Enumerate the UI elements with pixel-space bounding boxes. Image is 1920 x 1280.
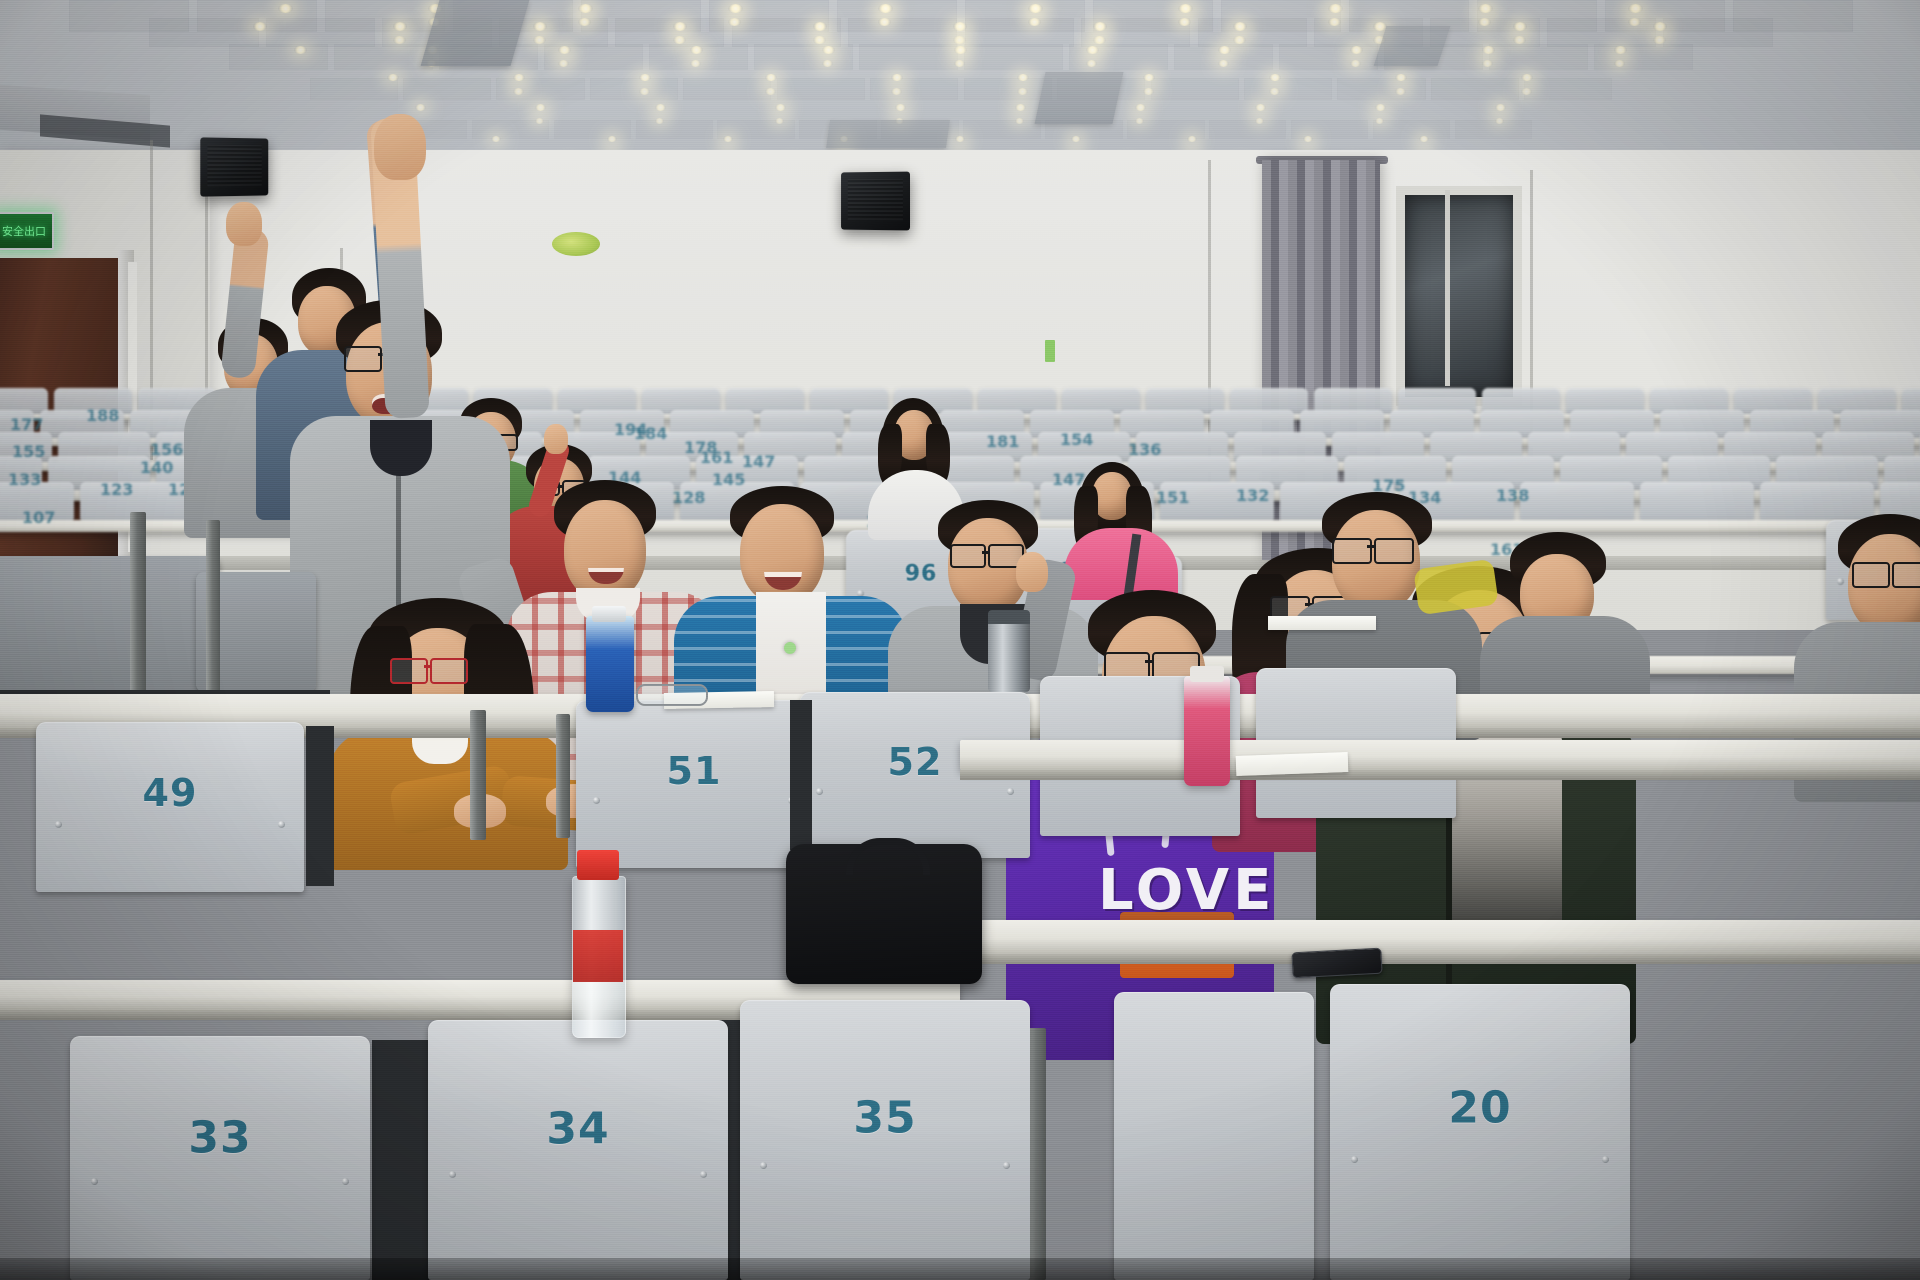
foreground-shadow-band (0, 1258, 1920, 1280)
ceiling-light (393, 36, 406, 44)
seat-49[interactable]: 49 (36, 722, 304, 892)
ceiling-tile (334, 44, 433, 70)
ceiling-beam-2 (1034, 72, 1123, 124)
seat-number-label: 155 (12, 442, 45, 461)
ceiling-light (535, 104, 546, 111)
ceiling-light (639, 88, 650, 95)
ceiling-light (1093, 22, 1107, 31)
ceiling-light (578, 4, 593, 13)
ceiling-light (1653, 36, 1666, 44)
ceiling-light (1093, 36, 1106, 44)
ceiling-tile (266, 18, 375, 47)
ceiling-light (1375, 104, 1386, 111)
ceiling-tile (149, 18, 258, 47)
ceiling-light (775, 104, 786, 111)
window-mullion (1445, 190, 1450, 386)
seat-bolt (760, 1162, 767, 1169)
ceiling-tile (964, 44, 1063, 70)
hand (544, 424, 568, 454)
desk-surface-row-second-right (960, 740, 1920, 770)
seat-number-label: 52 (888, 740, 943, 784)
ceiling-light (765, 88, 776, 95)
wall-speaker-left (200, 137, 268, 196)
ceiling-tile (229, 44, 328, 70)
ceiling-light (673, 36, 686, 44)
ceiling-light (728, 4, 743, 13)
inner-shirt (370, 420, 432, 476)
torso (1064, 528, 1178, 600)
seat-20[interactable]: 20 (1330, 984, 1630, 1280)
ceiling-light (1495, 104, 1506, 111)
ceiling-light (1135, 104, 1146, 111)
ceiling-beam-1 (421, 0, 530, 66)
glasses-bridge (424, 665, 432, 668)
ceiling-light (1086, 46, 1099, 54)
seat-number-label: 181 (986, 432, 1019, 451)
ceiling-light (533, 22, 547, 31)
ceiling-light (393, 22, 407, 31)
ceiling-light (1653, 22, 1667, 31)
ceiling-tile (1198, 18, 1307, 47)
lecture-hall-photo: 安全出口 10712312913314015515617718819418414… (0, 0, 1920, 1280)
ceiling-light (1478, 4, 1493, 13)
seat-gap-shadow (306, 726, 334, 886)
ceiling-tile (1431, 78, 1519, 100)
hand-raised (374, 114, 426, 180)
ceiling-light (1178, 4, 1193, 13)
ceiling-tile (554, 120, 632, 139)
eyeglasses-on-desk[interactable] (636, 684, 708, 706)
ceiling-light (822, 46, 835, 54)
ceiling-light (1350, 46, 1363, 54)
desk-leg (556, 714, 570, 838)
seat-back[interactable] (1760, 482, 1874, 520)
seat-bolt (816, 788, 823, 795)
seat-34[interactable]: 34 (428, 1020, 728, 1280)
seat-bolt (700, 1171, 707, 1178)
ceiling-light (253, 22, 267, 31)
seat-bolt (91, 1178, 98, 1185)
ceiling-tile (1291, 120, 1369, 139)
seat-number-label: 123 (100, 480, 133, 499)
glasses-right-lens (430, 658, 468, 684)
ceiling-light (1521, 88, 1532, 95)
seat-back-partial-right[interactable] (1114, 992, 1314, 1280)
seat-number-label: 132 (1236, 486, 1269, 505)
ceiling-beam-3 (826, 120, 950, 148)
glasses-bridge (1367, 545, 1375, 548)
ceiling-tile (1151, 78, 1239, 100)
ceiling-light (415, 104, 426, 111)
seat-bolt (1003, 1162, 1010, 1169)
seat-number-label: 128 (672, 488, 705, 507)
glasses-left-lens (1332, 538, 1372, 564)
ceiling-light (953, 36, 966, 44)
desk-edge (960, 770, 1920, 780)
wall-marker-green (1045, 340, 1055, 362)
glasses-right-lens (1374, 538, 1414, 564)
ceiling-light (1328, 4, 1343, 13)
smartphone-on-desk[interactable] (1291, 948, 1382, 979)
seat-back[interactable] (1640, 482, 1754, 520)
blue-bottle-cap[interactable] (592, 606, 626, 622)
ceiling-light (513, 88, 524, 95)
seat-bolt (1602, 1156, 1609, 1163)
ceiling-tile (870, 78, 958, 100)
seat-number-label: 133 (8, 470, 41, 489)
seat-number-label: 156 (150, 440, 183, 459)
pink-bottle-cap[interactable] (1190, 666, 1224, 682)
desk-leg (470, 710, 486, 840)
empty-seat-pan[interactable] (0, 556, 220, 696)
ceiling-light (1233, 36, 1246, 44)
hand-raised (226, 202, 262, 246)
ceiling-tile (1279, 44, 1378, 70)
necklace-pendant (784, 642, 796, 654)
steel-thermos[interactable] (988, 616, 1030, 692)
ceiling-light (1614, 46, 1627, 54)
ceiling-light (533, 36, 546, 44)
ceiling-light (895, 104, 906, 111)
seat-gap-shadow (372, 1040, 432, 1280)
seat-number-label: 147 (742, 452, 775, 471)
notebook-paper-right (1236, 752, 1349, 776)
ceiling-light (1218, 46, 1231, 54)
seat-number-label: 140 (140, 458, 173, 477)
desk-leg (206, 520, 220, 710)
bottle-cap-red[interactable] (577, 850, 619, 880)
ceiling-light (1395, 88, 1406, 95)
rear-window (1396, 186, 1522, 406)
ceiling-tile (636, 120, 714, 139)
seat-number-label: 35 (853, 1092, 916, 1143)
seat-number-label: 136 (1128, 440, 1161, 459)
seat-number-label: 151 (1156, 488, 1189, 507)
glasses-bridge (982, 551, 990, 554)
seat-bolt (593, 797, 600, 804)
glasses-bridge (1145, 660, 1154, 663)
seat-number-label: 20 (1448, 1083, 1511, 1134)
ceiling-tile (965, 18, 1074, 47)
seat-gap-shadow (790, 700, 812, 850)
ceiling-tile (1244, 78, 1332, 100)
seat-bolt (55, 821, 62, 828)
seat-number-label: 33 (188, 1113, 251, 1164)
seat-number-label: 51 (667, 749, 722, 793)
wall-speaker-right (841, 172, 910, 231)
ceiling-tile (964, 78, 1052, 100)
ceiling-tile (615, 18, 724, 47)
ceiling-light (878, 4, 893, 13)
ceiling-tile (754, 44, 853, 70)
ceiling-tile (1663, 18, 1772, 47)
ceiling-light (1028, 4, 1043, 13)
ceiling-beam-4 (1374, 26, 1451, 66)
ceiling-light (1015, 104, 1026, 111)
ceiling-light (891, 88, 902, 95)
ceiling-light (953, 22, 967, 31)
ceiling-tile (496, 78, 584, 100)
ceiling-tile (848, 18, 957, 47)
exit-sign: 安全出口 (0, 212, 54, 250)
ceiling-light (1513, 36, 1526, 44)
ceiling-light (954, 46, 967, 54)
seat-33[interactable]: 33 (70, 1036, 370, 1280)
glasses-left-lens (344, 346, 382, 372)
ceiling-tile (1373, 120, 1451, 139)
ceiling-tile (683, 78, 771, 100)
seat-number-label: 178 (684, 438, 717, 457)
ceiling-light (1143, 88, 1154, 95)
seat-number-label: 184 (634, 424, 667, 443)
desk-leg (1028, 1028, 1046, 1280)
seat-number-label: 138 (1496, 486, 1529, 505)
ceiling-light (294, 46, 307, 54)
seat-bolt (1007, 788, 1014, 795)
ceiling-light (1017, 88, 1028, 95)
ceiling-light (1628, 4, 1643, 13)
seat-bolt (1837, 578, 1844, 585)
ceiling-tile (590, 78, 678, 100)
seat-number-label: 188 (86, 406, 119, 425)
pink-water-bottle[interactable] (1184, 676, 1230, 786)
desk-edge (960, 954, 1920, 964)
bottle-label-red (573, 930, 623, 982)
ceiling-light (1233, 22, 1247, 31)
exit-sign-text: 安全出口 (2, 223, 46, 239)
wall-plaque-icon (552, 232, 600, 256)
ceiling-light (278, 4, 293, 13)
paper-mid (1268, 616, 1376, 630)
seat-bolt (449, 1171, 456, 1178)
ceiling-tile (859, 44, 958, 70)
seat-number-label: 177 (10, 415, 43, 434)
ceiling-light (1255, 104, 1266, 111)
ceiling-tile (403, 78, 491, 100)
blue-beverage-bottle[interactable] (586, 616, 634, 712)
ceiling-light (813, 36, 826, 44)
seat-number-label: 49 (143, 771, 198, 815)
ceiling-light (1513, 22, 1527, 31)
seat-number-label: 34 (546, 1104, 609, 1155)
ceiling-tile (1594, 44, 1693, 70)
ceiling-tile (963, 120, 1041, 139)
ceiling-light (1269, 88, 1280, 95)
seat-bolt (278, 821, 285, 828)
thermos-cap[interactable] (988, 610, 1030, 624)
ceiling-tile (777, 78, 865, 100)
ceiling-light (1482, 46, 1495, 54)
ceiling-light (673, 22, 687, 31)
ceiling-tile (1524, 78, 1612, 100)
glasses-left-lens (390, 658, 428, 684)
seat-number-label: 145 (712, 470, 745, 489)
desk-leg (130, 512, 146, 712)
ceiling-tile (1069, 44, 1168, 70)
hand-on-cheek (1016, 552, 1048, 592)
seat-bolt (1351, 1156, 1358, 1163)
head (564, 500, 646, 600)
glasses-right-lens (1892, 562, 1920, 588)
ceiling-light (813, 22, 827, 31)
seat-number-label: 96 (905, 561, 938, 586)
seat-number-label: 107 (22, 508, 55, 527)
ceiling-tile (1489, 44, 1588, 70)
seat-back[interactable] (1520, 482, 1634, 520)
seat-51[interactable]: 51 (576, 700, 812, 868)
seat-number-label: 154 (1060, 430, 1093, 449)
glasses-left-lens (1852, 562, 1890, 588)
ceiling-tile (1455, 120, 1533, 139)
glasses-left-lens (950, 544, 986, 568)
ceiling-tile (310, 78, 398, 100)
ceiling-light (558, 46, 571, 54)
seat-35[interactable]: 35 (740, 1000, 1030, 1280)
ceiling-tile (1337, 78, 1425, 100)
ceiling-light (655, 104, 666, 111)
desk-surface-row-front-right (960, 920, 1920, 954)
ceiling-tile (1209, 120, 1287, 139)
ceiling-light (690, 46, 703, 54)
seat-bolt (342, 1178, 349, 1185)
